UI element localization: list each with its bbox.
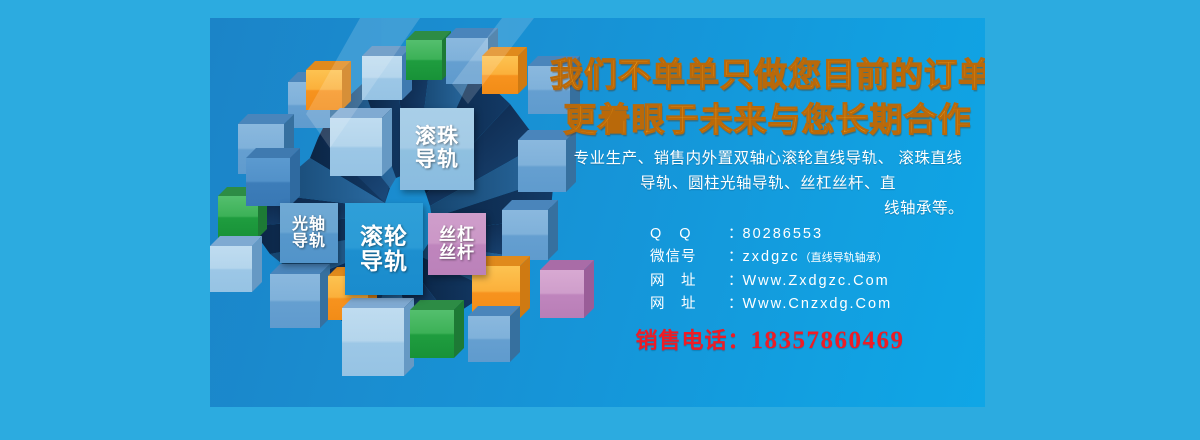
qq-separator: ： [728, 223, 743, 246]
product-cube-gunzhu-line1: 滚珠 [415, 126, 459, 149]
product-cube-guangzhou-line2: 导轨 [292, 233, 326, 250]
product-cube-gunlun-daogui[interactable]: 滚轮 导轨 [345, 203, 423, 295]
website-1-label: 网 址 [650, 270, 728, 293]
banner-panel: 滚珠 导轨 光轴 导轨 滚轮 导轨 丝杠 丝杆 我们不单单只做您目前的订单 更着… [210, 18, 985, 407]
website-2-separator: ： [728, 293, 743, 316]
subcopy-line-1: 专业生产、销售内外置双轴心滚轮直线导轨、 [574, 150, 894, 167]
website-2-value[interactable]: Www.Cnzxdg.Com [743, 293, 893, 316]
copy-block: 我们不单单只做您目前的订单 更着眼于未来与您长期合作 专业生产、销售内外置双轴心… [550, 18, 985, 407]
sales-phone-number[interactable]: 18357860469 [751, 327, 905, 354]
product-cube-gunzhu-line2: 导轨 [415, 149, 459, 172]
product-cube-gunlun-line1: 滚轮 [360, 224, 408, 249]
wechat-separator: ： [728, 246, 743, 269]
product-cube-sigang-line1: 丝杠 [439, 226, 475, 244]
qq-value[interactable]: 80286553 [743, 223, 824, 246]
headline-line-1: 我们不单单只做您目前的订单 [550, 48, 985, 96]
contact-row-website-2: 网 址 ： Www.Cnzxdg.Com [650, 293, 892, 316]
contact-row-website-1: 网 址 ： Www.Zxdgzc.Com [650, 270, 892, 293]
product-cube-gunlun-line2: 导轨 [360, 249, 408, 274]
wechat-value[interactable]: zxdgzc [743, 246, 800, 269]
product-cube-gunzhu-daogui[interactable]: 滚珠 导轨 [400, 108, 474, 190]
wechat-label: 微信号 [650, 246, 728, 269]
headline-line-2: 更着眼于未来与您长期合作 [550, 93, 985, 141]
banner-ad: 滚珠 导轨 光轴 导轨 滚轮 导轨 丝杠 丝杆 我们不单单只做您目前的订单 更着… [0, 0, 1200, 440]
sales-phone[interactable]: 销售电话：18357860469 [570, 323, 970, 355]
qq-label: Q Q [650, 223, 728, 246]
sales-phone-label: 销售电话： [635, 328, 750, 353]
product-cube-sigang-line2: 丝杆 [439, 244, 475, 262]
product-cube-guangzhou-line1: 光轴 [292, 216, 326, 233]
contact-details: Q Q ： 80286553 微信号 ： zxdgzc （直线导轨轴承） 网 址… [650, 223, 892, 317]
cube-faces [210, 28, 594, 376]
website-1-separator: ： [728, 270, 743, 293]
wechat-note: （直线导轨轴承） [800, 250, 888, 268]
website-2-label: 网 址 [650, 293, 728, 316]
website-1-value[interactable]: Www.Zxdgzc.Com [743, 270, 890, 293]
product-cube-sigang-sigan[interactable]: 丝杠 丝杆 [428, 213, 486, 275]
contact-row-wechat: 微信号 ： zxdgzc （直线导轨轴承） [650, 246, 892, 269]
subcopy-paragraph: 专业生产、销售内外置双轴心滚轮直线导轨、 滚珠直线导轨、圆柱光轴导轨、丝杠丝杆、… [568, 146, 968, 221]
subcopy-line-3: 线轴承等。 [568, 196, 968, 221]
contact-row-qq: Q Q ： 80286553 [650, 223, 892, 246]
product-cube-guangzhou-daogui[interactable]: 光轴 导轨 [280, 203, 338, 263]
